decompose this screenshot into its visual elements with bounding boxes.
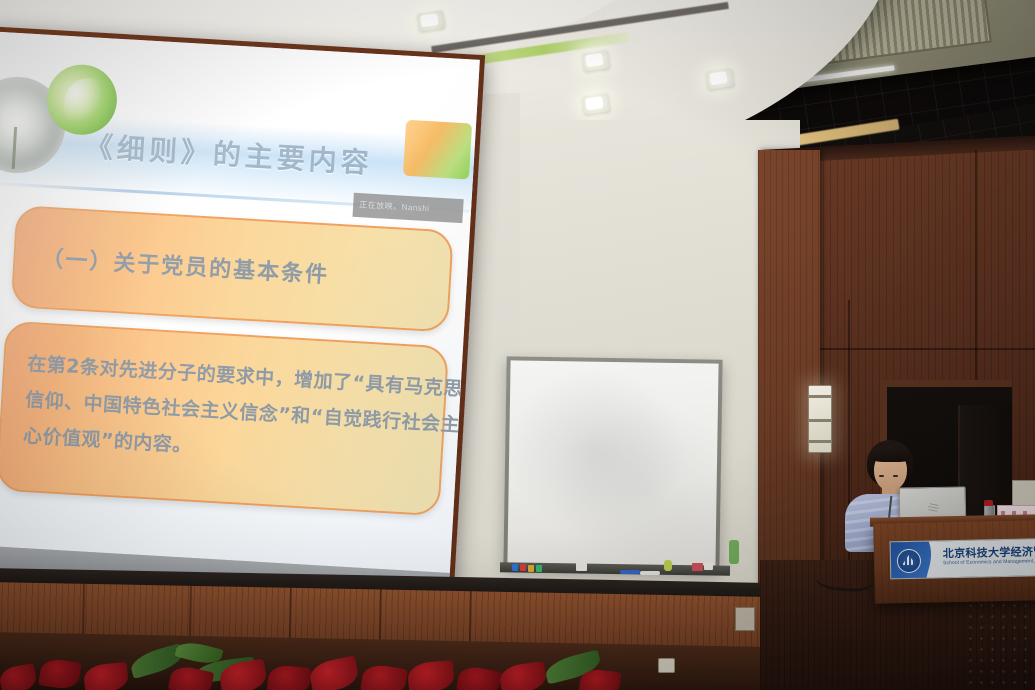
flower	[83, 662, 130, 690]
marker[interactable]	[520, 564, 526, 571]
vent-perforations	[965, 600, 1035, 690]
flower	[267, 664, 312, 690]
wall-switch-plate	[735, 607, 755, 631]
flower	[360, 663, 408, 690]
podium-org-name-en: School of Economics and Management, USTB	[943, 558, 1035, 566]
eye	[893, 475, 898, 477]
projection-screen: 《细则》的主要内容 正在放映。Nanshi （一）关于党员的基本条件 在第2条对…	[0, 26, 485, 620]
ceiling-downlight	[417, 10, 445, 31]
flower	[0, 663, 38, 690]
whiteboard	[503, 356, 722, 571]
eye	[879, 475, 884, 477]
pen[interactable]	[640, 571, 660, 575]
ceiling-downlight	[582, 93, 610, 114]
lecture-hall-photo: 《细则》的主要内容 正在放映。Nanshi （一）关于党员的基本条件 在第2条对…	[0, 0, 1035, 690]
eraser[interactable]	[704, 562, 713, 570]
flower	[38, 657, 82, 690]
screen-surface: 《细则》的主要内容 正在放映。Nanshi （一）关于党员的基本条件 在第2条对…	[0, 31, 480, 615]
leaf-highlight	[62, 76, 107, 127]
eraser[interactable]	[692, 563, 703, 571]
flower	[498, 661, 547, 690]
bottle-cap	[984, 500, 993, 506]
wall-sconce-light-icon	[808, 385, 832, 453]
hp-logo-icon	[927, 502, 938, 513]
slide-body-box: 在第2条对先进分子的要求中，增加了“具有马克思主义 信仰、中国特色社会主义信念”…	[0, 321, 449, 517]
eraser[interactable]	[576, 563, 587, 571]
sconce-band	[809, 419, 831, 422]
marker[interactable]	[536, 565, 542, 572]
marker[interactable]	[528, 565, 534, 572]
flower	[456, 664, 502, 690]
hair-front	[871, 446, 911, 462]
flower-arrangement	[0, 640, 680, 690]
cleaning-spray-bottle[interactable]	[664, 560, 672, 571]
flower	[407, 660, 455, 690]
marker[interactable]	[512, 564, 518, 571]
pen[interactable]	[620, 570, 640, 574]
spray-bottle[interactable]	[729, 540, 739, 564]
ceiling-downlight	[582, 50, 610, 71]
whiteboard-surface	[507, 360, 718, 567]
presentation-slide: 《细则》的主要内容 正在放映。Nanshi （一）关于党员的基本条件 在第2条对…	[0, 31, 480, 573]
ceiling-downlight	[706, 68, 734, 89]
flower	[307, 655, 360, 690]
podium-sign: 北京科技大学经济管理学院 School of Economics and Man…	[890, 538, 1035, 579]
podium: 北京科技大学经济管理学院 School of Economics and Man…	[873, 520, 1035, 603]
